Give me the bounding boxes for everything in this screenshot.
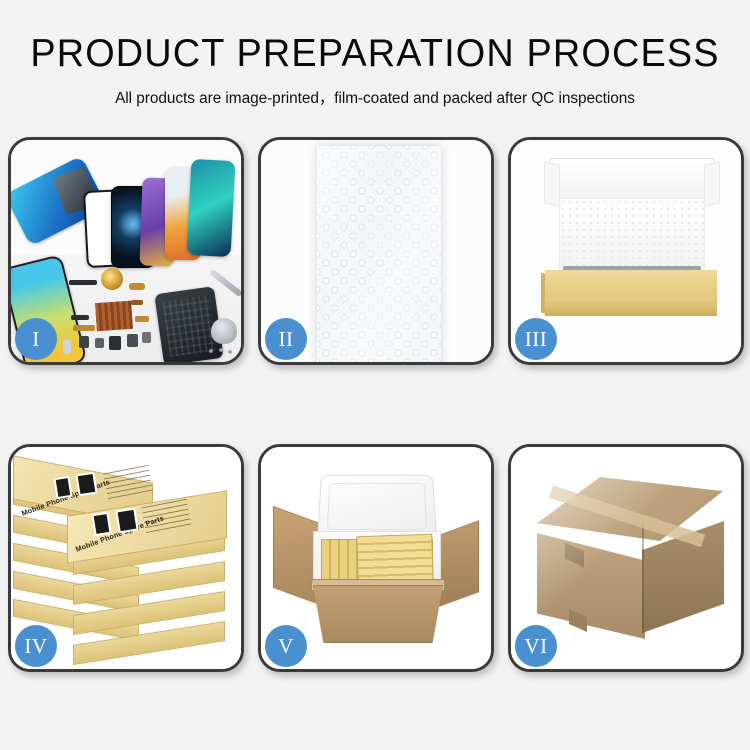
page-subtitle: All products are image-printed，film-coat… bbox=[0, 86, 750, 108]
wireless-coil-part bbox=[101, 268, 123, 290]
process-steps-grid: I II III bbox=[8, 137, 744, 672]
process-step-panel-5[interactable]: V bbox=[258, 444, 494, 672]
step-badge-4: IV bbox=[15, 625, 57, 667]
gold-bracket-part bbox=[73, 325, 95, 331]
connector-chip-part bbox=[95, 301, 133, 331]
component-part-6 bbox=[63, 340, 71, 354]
process-step-panel-2[interactable]: II bbox=[258, 137, 494, 365]
component-part-3 bbox=[109, 336, 121, 350]
kraft-box-front bbox=[545, 298, 717, 316]
small-flex-part bbox=[131, 300, 143, 305]
component-part-7 bbox=[135, 316, 149, 322]
phone-screen-teal bbox=[187, 159, 236, 257]
process-step-panel-1[interactable]: I bbox=[8, 137, 244, 365]
yellow-boxes-stack bbox=[356, 534, 434, 585]
component-part-4 bbox=[127, 334, 138, 347]
carton-corner-seam bbox=[642, 521, 644, 633]
carton-body bbox=[313, 585, 443, 643]
step-badge-3: III bbox=[515, 318, 557, 360]
step-badge-5: V bbox=[265, 625, 307, 667]
step-badge-2: II bbox=[265, 318, 307, 360]
box-art-screen bbox=[91, 512, 111, 536]
repair-hand bbox=[211, 318, 237, 344]
flex-cable-part bbox=[69, 280, 97, 285]
page-title: PRODUCT PREPARATION PROCESS bbox=[11, 34, 739, 73]
component-part-5 bbox=[142, 332, 151, 343]
process-step-panel-3[interactable]: III bbox=[508, 137, 744, 365]
gold-contact-part bbox=[129, 283, 145, 290]
component-part-2 bbox=[95, 338, 104, 348]
box-art-screen bbox=[75, 472, 97, 497]
step-badge-1: I bbox=[15, 318, 57, 360]
foam-sheet bbox=[559, 198, 705, 274]
bubble-wrap bbox=[317, 146, 441, 362]
styrofoam-lid bbox=[317, 475, 437, 540]
screws-group bbox=[207, 346, 233, 356]
component-part-1 bbox=[79, 336, 89, 348]
process-step-panel-6[interactable]: VI bbox=[508, 444, 744, 672]
page-header: PRODUCT PREPARATION PROCESS All products… bbox=[0, 0, 750, 108]
step-badge-6: VI bbox=[515, 625, 557, 667]
box-art-screen bbox=[115, 508, 138, 534]
box-art-screen bbox=[53, 476, 72, 499]
dark-strip-part bbox=[71, 315, 89, 320]
process-step-panel-4[interactable]: Mobile Phone Spare Parts Mobile Phone Sp… bbox=[8, 444, 244, 672]
